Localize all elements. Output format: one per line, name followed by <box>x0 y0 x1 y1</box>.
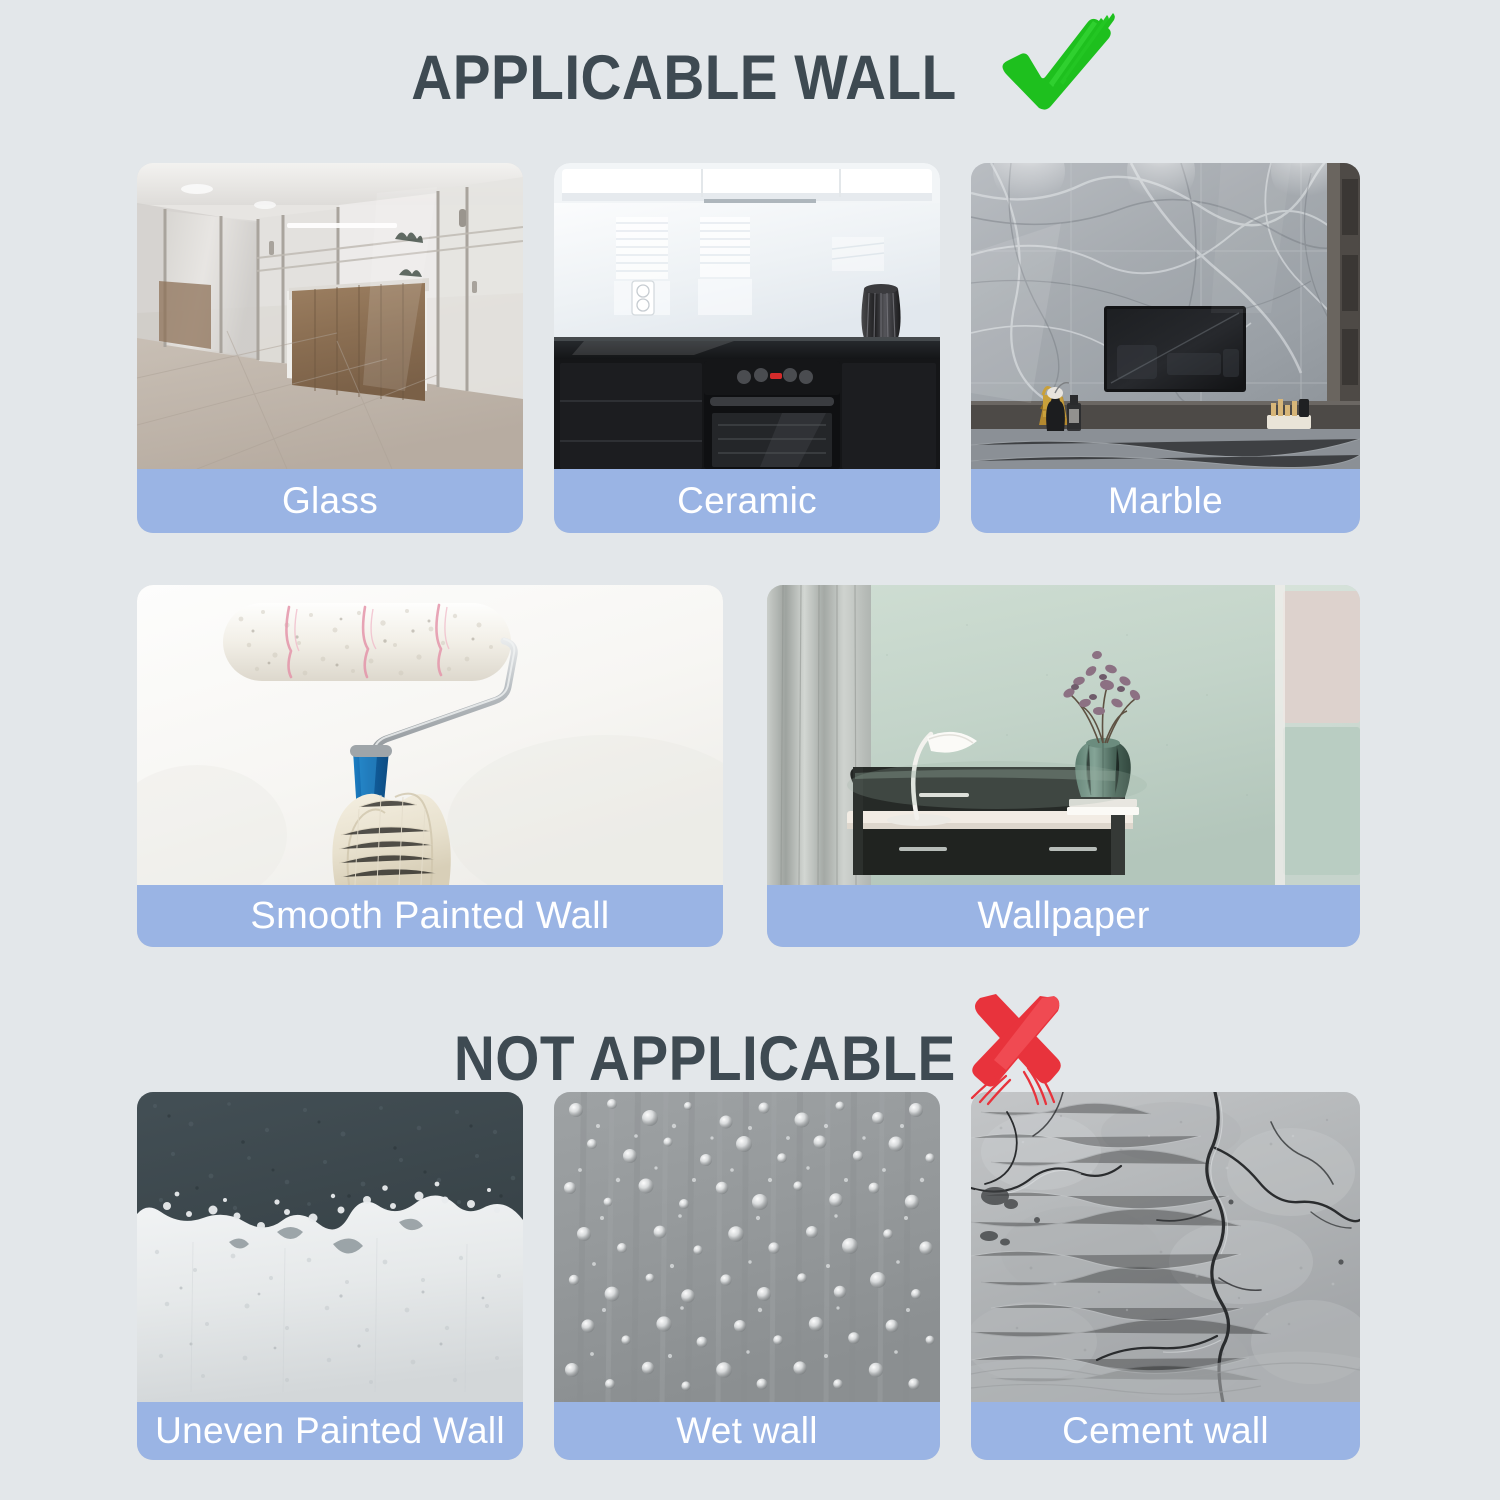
card-smooth-painted-wall[interactable]: Smooth Painted Wall <box>137 585 723 947</box>
not-applicable-title-text: NOT APPLICABLE <box>454 1023 956 1095</box>
photo-glass <box>137 163 523 469</box>
label-cement-wall: Cement wall <box>971 1402 1360 1460</box>
applicable-wall-heading: APPLICABLE WALL <box>0 42 1500 114</box>
card-wet-wall[interactable]: Wet wall <box>554 1092 940 1460</box>
label-wallpaper: Wallpaper <box>767 885 1360 947</box>
card-marble[interactable]: Marble <box>971 163 1360 533</box>
label-uneven-painted-wall: Uneven Painted Wall <box>137 1402 523 1460</box>
label-marble: Marble <box>971 469 1360 533</box>
photo-uneven-painted-wall <box>137 1092 523 1402</box>
photo-wallpaper <box>767 585 1360 885</box>
photo-wet-wall <box>554 1092 940 1402</box>
green-check-icon <box>989 9 1119 113</box>
applicable-wall-title-text: APPLICABLE WALL <box>411 42 956 114</box>
red-x-icon <box>958 994 1074 1106</box>
label-wet-wall: Wet wall <box>554 1402 940 1460</box>
label-ceramic: Ceramic <box>554 469 940 533</box>
card-wallpaper[interactable]: Wallpaper <box>767 585 1360 947</box>
photo-ceramic <box>554 163 940 469</box>
label-glass: Glass <box>137 469 523 533</box>
card-glass[interactable]: Glass <box>137 163 523 533</box>
photo-cement-wall <box>971 1092 1360 1402</box>
photo-smooth-painted-wall <box>137 585 723 885</box>
photo-marble <box>971 163 1360 469</box>
label-smooth-painted-wall: Smooth Painted Wall <box>137 885 723 947</box>
card-uneven-painted-wall[interactable]: Uneven Painted Wall <box>137 1092 523 1460</box>
card-ceramic[interactable]: Ceramic <box>554 163 940 533</box>
card-cement-wall[interactable]: Cement wall <box>971 1092 1360 1460</box>
